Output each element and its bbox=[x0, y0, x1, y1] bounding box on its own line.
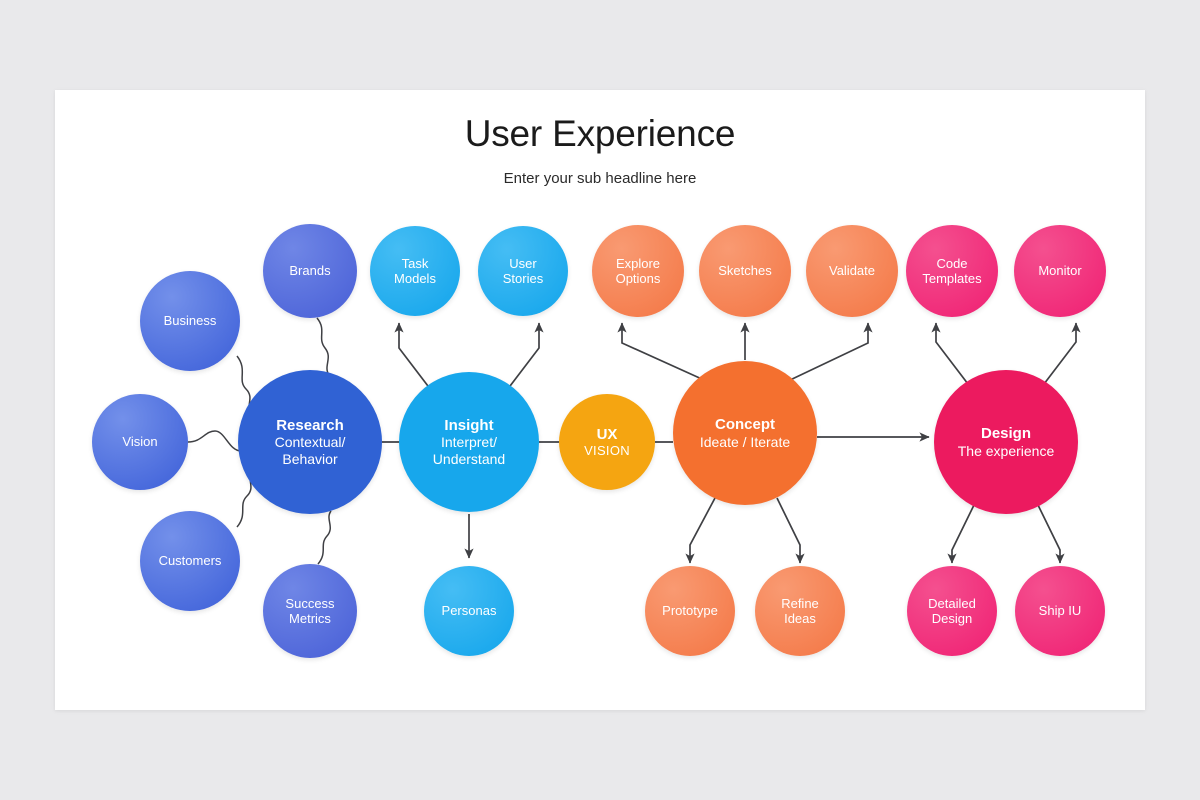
hub-title-ux: UX bbox=[597, 426, 618, 443]
satellite-node-code-templates[interactable]: Code Templates bbox=[906, 225, 998, 317]
hub-title-concept: Concept bbox=[715, 416, 775, 433]
satellite-label-detailed-design: Detailed Design bbox=[928, 596, 976, 626]
satellite-label-explore-options: Explore Options bbox=[616, 256, 661, 286]
satellite-label-monitor: Monitor bbox=[1038, 263, 1081, 278]
hub-subtitle-concept: Ideate / Iterate bbox=[700, 434, 790, 450]
arrow-design-code-templates bbox=[936, 323, 968, 384]
satellite-label-sketches: Sketches bbox=[718, 263, 771, 278]
satellite-label-task-models: Task Models bbox=[394, 256, 436, 286]
satellite-label-personas: Personas bbox=[442, 603, 497, 618]
satellite-label-code-templates: Code Templates bbox=[922, 256, 981, 286]
arrow-concept-explore-options bbox=[622, 323, 704, 380]
arrow-design-monitor bbox=[1044, 323, 1076, 384]
satellite-node-user-stories[interactable]: User Stories bbox=[478, 226, 568, 316]
hub-subtitle-design: The experience bbox=[958, 443, 1055, 459]
arrow-insight-task-models bbox=[399, 323, 431, 390]
satellite-label-success-metrics: Success Metrics bbox=[285, 596, 334, 626]
satellite-label-refine-ideas: Refine Ideas bbox=[781, 596, 819, 626]
satellite-label-business: Business bbox=[164, 313, 217, 328]
connector-research-vision bbox=[188, 431, 241, 451]
satellite-node-monitor[interactable]: Monitor bbox=[1014, 225, 1106, 317]
satellite-node-validate[interactable]: Validate bbox=[806, 225, 898, 317]
hub-title-design: Design bbox=[981, 425, 1031, 442]
arrow-concept-prototype bbox=[690, 498, 715, 563]
satellite-label-ship-iu: Ship IU bbox=[1039, 603, 1082, 618]
satellite-node-explore-options[interactable]: Explore Options bbox=[592, 225, 684, 317]
satellite-label-user-stories: User Stories bbox=[503, 256, 543, 286]
hub-subtitle-ux: VISION bbox=[584, 443, 630, 458]
hub-node-ux[interactable]: UX VISION bbox=[559, 394, 655, 490]
satellite-label-prototype: Prototype bbox=[662, 603, 718, 618]
satellite-node-prototype[interactable]: Prototype bbox=[645, 566, 735, 656]
hub-title-research: Research bbox=[276, 417, 344, 434]
hub-node-design[interactable]: Design The experience bbox=[934, 370, 1078, 514]
hub-subtitle-research: Contextual/ Behavior bbox=[275, 434, 346, 466]
satellite-node-refine-ideas[interactable]: Refine Ideas bbox=[755, 566, 845, 656]
satellite-node-ship-iu[interactable]: Ship IU bbox=[1015, 566, 1105, 656]
diagram-canvas: Research Contextual/ Behavior Insight In… bbox=[55, 90, 1145, 710]
slide-card: User Experience Enter your sub headline … bbox=[55, 90, 1145, 710]
satellite-node-business[interactable]: Business bbox=[140, 271, 240, 371]
connector-research-success bbox=[318, 511, 331, 564]
satellite-label-validate: Validate bbox=[829, 263, 875, 278]
arrow-concept-refine-ideas bbox=[777, 498, 800, 563]
satellite-node-personas[interactable]: Personas bbox=[424, 566, 514, 656]
arrow-design-ship-iu bbox=[1038, 505, 1060, 563]
hub-title-insight: Insight bbox=[444, 417, 493, 434]
satellite-node-vision[interactable]: Vision bbox=[92, 394, 188, 490]
connector-research-brands bbox=[317, 318, 329, 375]
hub-node-insight[interactable]: Insight Interpret/ Understand bbox=[399, 372, 539, 512]
arrow-concept-validate bbox=[788, 323, 868, 381]
satellite-label-brands: Brands bbox=[289, 263, 330, 278]
satellite-label-vision: Vision bbox=[122, 434, 157, 449]
hub-node-concept[interactable]: Concept Ideate / Iterate bbox=[673, 361, 817, 505]
satellite-node-brands[interactable]: Brands bbox=[263, 224, 357, 318]
arrow-insight-user-stories bbox=[507, 323, 539, 390]
hub-subtitle-insight: Interpret/ Understand bbox=[433, 434, 505, 466]
satellite-label-customers: Customers bbox=[159, 553, 222, 568]
hub-node-research[interactable]: Research Contextual/ Behavior bbox=[238, 370, 382, 514]
satellite-node-sketches[interactable]: Sketches bbox=[699, 225, 791, 317]
satellite-node-detailed-design[interactable]: Detailed Design bbox=[907, 566, 997, 656]
satellite-node-customers[interactable]: Customers bbox=[140, 511, 240, 611]
satellite-node-task-models[interactable]: Task Models bbox=[370, 226, 460, 316]
satellite-node-success-metrics[interactable]: Success Metrics bbox=[263, 564, 357, 658]
arrow-design-detailed-design bbox=[952, 505, 974, 563]
